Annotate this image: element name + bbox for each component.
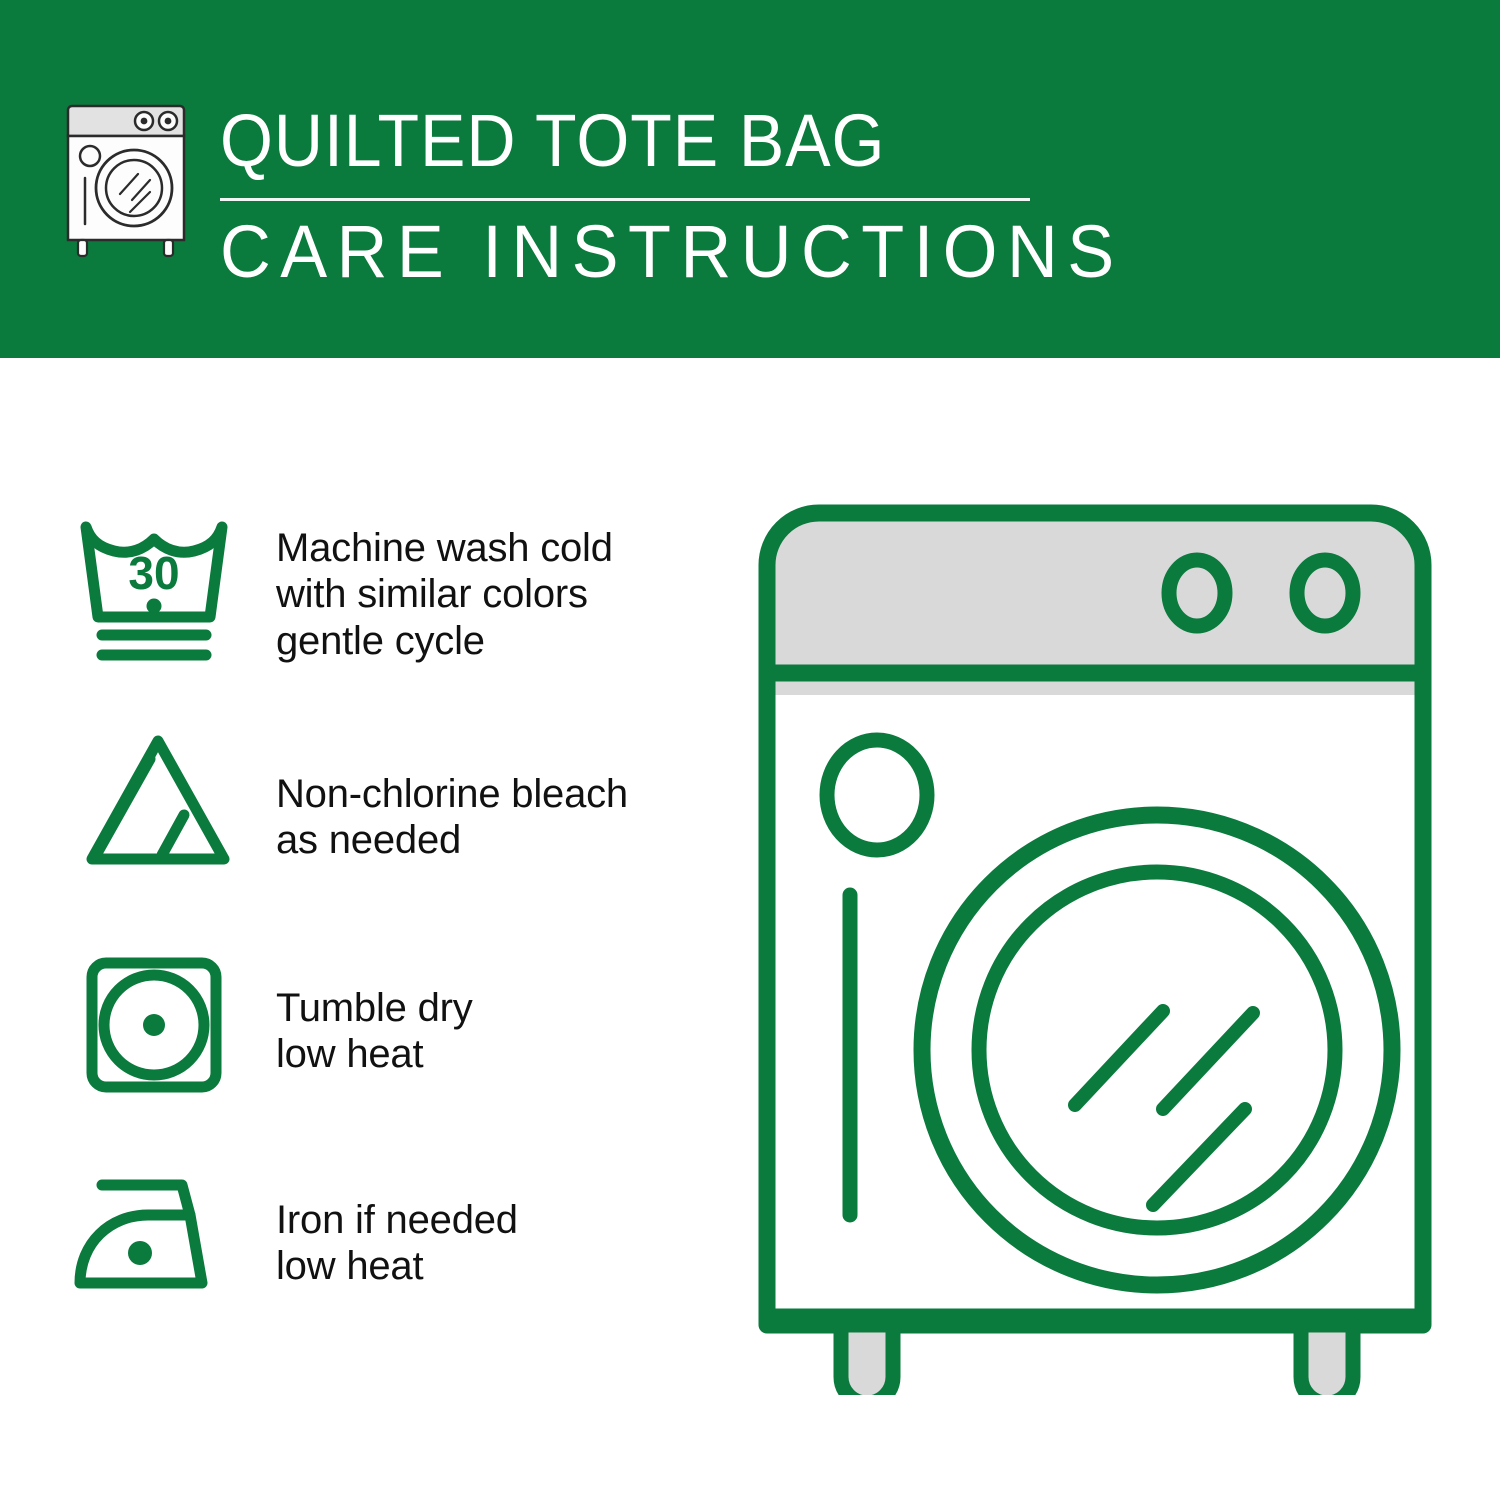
washing-machine-icon — [62, 100, 190, 260]
care-item-bleach-label: Non-chlorine bleach as needed — [276, 771, 628, 864]
care-symbol-list: 30 Machine wash cold with similar colors… — [72, 505, 712, 1377]
care-item-iron: Iron if needed low heat — [72, 1159, 712, 1377]
care-instructions-page: QUILTED TOTE BAG CARE INSTRUCTIONS 3 — [0, 0, 1500, 1500]
header-text-block: QUILTED TOTE BAG CARE INSTRUCTIONS — [220, 100, 1171, 289]
leg-right — [1301, 1325, 1353, 1395]
care-item-iron-label: Iron if needed low heat — [276, 1197, 518, 1290]
front-load-washing-machine-illustration — [745, 495, 1445, 1395]
tumble-dry-low-heat-icon — [72, 941, 244, 1111]
header-inner: QUILTED TOTE BAG CARE INSTRUCTIONS — [62, 100, 1171, 289]
door-outer-ring — [922, 815, 1392, 1285]
door-shine-lines — [1075, 1011, 1253, 1205]
wash-temperature-value: 30 — [128, 547, 179, 599]
care-item-bleach: Non-chlorine bleach as needed — [72, 723, 712, 941]
care-item-wash-label: Machine wash cold with similar colors ge… — [276, 525, 613, 664]
title-divider — [220, 198, 1030, 201]
care-item-tumble-dry: Tumble dry low heat — [72, 941, 712, 1159]
iron-low-heat-icon — [72, 1159, 244, 1329]
leg-left — [841, 1325, 893, 1395]
wash-tub-30-gentle-icon: 30 — [72, 505, 244, 675]
page-subtitle: CARE INSTRUCTIONS — [220, 215, 1124, 289]
page-title: QUILTED TOTE BAG — [220, 106, 1095, 176]
non-chlorine-bleach-triangle-icon — [72, 723, 244, 893]
header-banner: QUILTED TOTE BAG CARE INSTRUCTIONS — [0, 0, 1500, 358]
detergent-dispenser-circle — [827, 740, 927, 850]
door-inner-ring — [979, 872, 1335, 1228]
care-item-wash: 30 Machine wash cold with similar colors… — [72, 505, 712, 723]
care-item-tumble-dry-label: Tumble dry low heat — [276, 985, 473, 1078]
